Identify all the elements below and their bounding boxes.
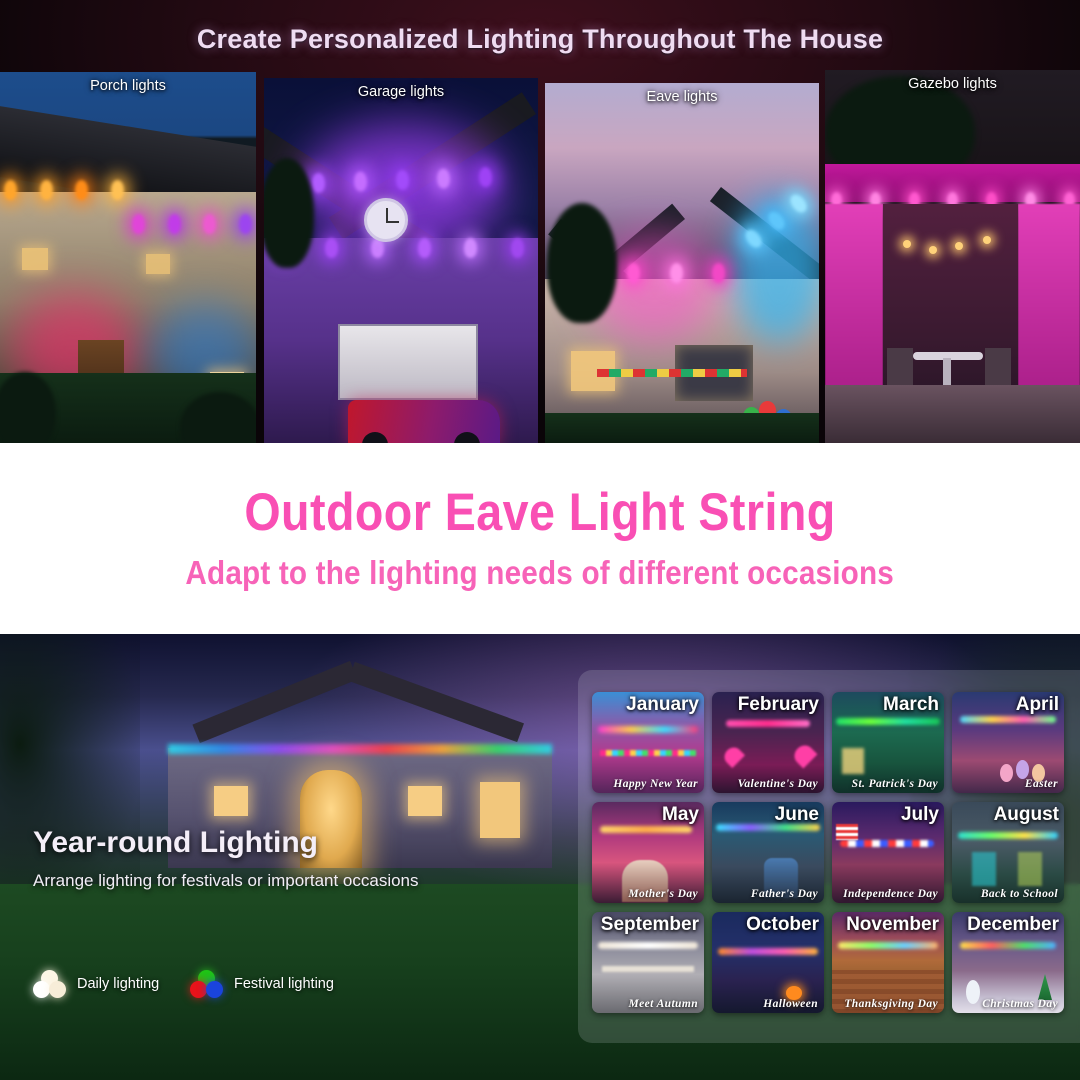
calendar-grid: January Happy New Year February Valentin… (592, 692, 1080, 1013)
daily-lighting-icon (33, 970, 67, 998)
product-title: Outdoor Eave Light String (244, 485, 835, 541)
january-garland (600, 750, 696, 756)
april-roofline (960, 716, 1056, 723)
august-roofline (958, 832, 1058, 839)
product-subtitle: Adapt to the lighting needs of different… (186, 554, 895, 592)
eave-bunting (597, 369, 747, 377)
january-roofline (598, 726, 698, 733)
calendar-occasion-april: Easter (1025, 778, 1058, 790)
calendar-month-august: August (994, 804, 1059, 826)
july-flag (836, 824, 858, 840)
garage-tree (264, 158, 314, 268)
product-marketing-image: Create Personalized Lighting Throughout … (0, 0, 1080, 1080)
calendar-cell-november[interactable]: November Thanksgiving Day (832, 912, 944, 1013)
calendar-cell-december[interactable]: December Christmas Day (952, 912, 1064, 1013)
march-window (842, 748, 864, 774)
calendar-month-september: September (601, 914, 699, 936)
legend-label-festival: Festival lighting (234, 976, 334, 992)
december-roofline (960, 942, 1056, 949)
garage-wall-clock (364, 198, 408, 242)
panel-gazebo-lights: Gazebo lights (825, 70, 1080, 443)
calendar-cell-june[interactable]: June Father's Day (712, 802, 824, 903)
calendar-occasion-march: St. Patrick's Day (852, 778, 938, 790)
september-eave-line (602, 966, 694, 972)
calendar-month-june: June (775, 804, 819, 826)
march-roofline (836, 718, 940, 725)
july-roofline (840, 840, 934, 847)
calendar-occasion-december: Christmas Day (982, 998, 1058, 1010)
porch-window-1 (22, 248, 48, 270)
calendar-occasion-november: Thanksgiving Day (844, 998, 938, 1010)
porch-bulbs-magenta (132, 214, 252, 234)
calendar-month-february: February (738, 694, 819, 716)
legend-daily-lighting: Daily lighting (33, 970, 159, 998)
legend-label-daily: Daily lighting (77, 976, 159, 992)
calendar-overlay: January Happy New Year February Valentin… (578, 670, 1080, 1043)
garage-car (348, 400, 500, 443)
calendar-cell-march[interactable]: March St. Patrick's Day (832, 692, 944, 793)
may-roofline (600, 826, 692, 833)
august-window-left (972, 852, 996, 886)
calendar-occasion-may: Mother's Day (628, 888, 698, 900)
calendar-cell-april[interactable]: April Easter (952, 692, 1064, 793)
calendar-occasion-june: Father's Day (751, 888, 818, 900)
calendar-month-january: January (626, 694, 699, 716)
calendar-occasion-september: Meet Autumn (629, 998, 698, 1010)
gazebo-patio (825, 385, 1080, 443)
calendar-month-april: April (1016, 694, 1059, 716)
year-round-heading: Year-round Lighting (33, 826, 318, 860)
calendar-month-november: November (846, 914, 939, 936)
legend-festival-lighting: Festival lighting (190, 970, 334, 998)
panel-eave-lights: Eave lights (545, 83, 819, 443)
november-roofline (838, 942, 938, 949)
eave-lawn (545, 413, 819, 443)
product-title-band: Outdoor Eave Light String Adapt to the l… (0, 443, 1080, 634)
calendar-cell-february[interactable]: February Valentine's Day (712, 692, 824, 793)
bottom-house (150, 652, 570, 902)
december-snowman (966, 980, 980, 1004)
calendar-month-may: May (662, 804, 699, 826)
calendar-month-march: March (883, 694, 939, 716)
calendar-cell-may[interactable]: May Mother's Day (592, 802, 704, 903)
hero-section: Create Personalized Lighting Throughout … (0, 0, 1080, 443)
panel-label-eave: Eave lights (545, 83, 819, 105)
calendar-month-december: December (967, 914, 1059, 936)
calendar-cell-august[interactable]: August Back to School (952, 802, 1064, 903)
eave-tree (547, 203, 617, 323)
february-roofline (726, 720, 810, 727)
festival-lighting-icon (190, 970, 224, 998)
september-roofline (598, 942, 698, 949)
garage-door (338, 324, 478, 400)
calendar-cell-january[interactable]: January Happy New Year (592, 692, 704, 793)
calendar-occasion-july: Independence Day (843, 888, 938, 900)
garage-wall-bulbs (278, 238, 524, 258)
calendar-occasion-august: Back to School (981, 888, 1058, 900)
calendar-occasion-february: Valentine's Day (738, 778, 818, 790)
calendar-occasion-january: Happy New Year (613, 778, 698, 790)
panel-label-gazebo: Gazebo lights (825, 70, 1080, 92)
calendar-cell-july[interactable]: July Independence Day (832, 802, 944, 903)
porch-window-2 (146, 254, 170, 274)
panel-porch-lights: Porch lights (0, 72, 256, 443)
calendar-month-october: October (746, 914, 819, 936)
gazebo-string-lights (899, 220, 1003, 260)
october-roofline (718, 948, 818, 955)
calendar-occasion-october: Halloween (763, 998, 818, 1010)
panel-label-garage: Garage lights (264, 78, 538, 100)
calendar-month-july: July (901, 804, 939, 826)
calendar-cell-october[interactable]: October Halloween (712, 912, 824, 1013)
august-window-right (1018, 852, 1042, 886)
panel-garage-lights: Garage lights (264, 78, 538, 443)
year-round-subheading: Arrange lighting for festivals or import… (33, 871, 419, 891)
porch-bulbs-orange (4, 180, 124, 200)
panel-label-porch: Porch lights (0, 72, 256, 94)
hero-title: Create Personalized Lighting Throughout … (0, 24, 1080, 55)
calendar-cell-september[interactable]: September Meet Autumn (592, 912, 704, 1013)
